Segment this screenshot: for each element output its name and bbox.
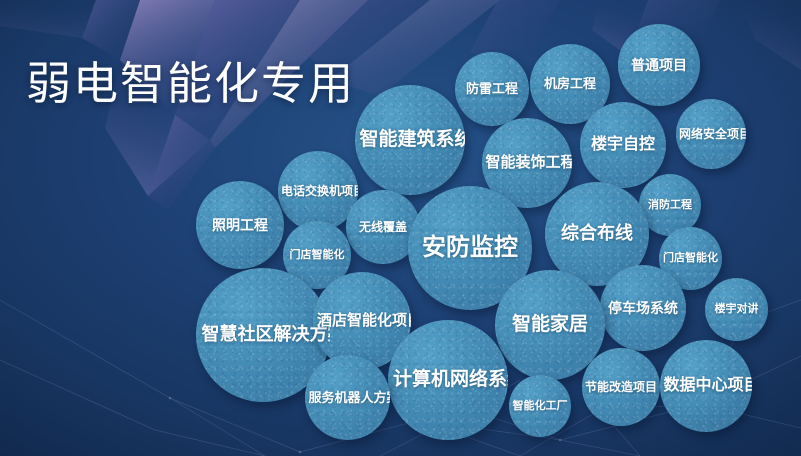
- bubble-label: 安防监控: [417, 234, 523, 262]
- bubble-label: 无线覆盖: [354, 220, 412, 234]
- bubble-putong-xiangmu[interactable]: 普通项目: [618, 24, 700, 106]
- bubble-label: 门店智能化: [659, 252, 722, 265]
- bubble-label: 机房工程: [539, 76, 601, 91]
- bubble-label: 智能家居: [507, 314, 593, 336]
- bubble-fanglei-gongcheng[interactable]: 防雷工程: [455, 52, 529, 126]
- bubble-label: 防雷工程: [461, 81, 523, 96]
- bubble-tingchechang-xitong[interactable]: 停车场系统: [600, 265, 686, 351]
- bubble-louyu-zikong[interactable]: 楼宇自控: [580, 102, 666, 188]
- bubble-label: 门店智能化: [285, 249, 350, 262]
- bubble-label: 照明工程: [207, 217, 273, 234]
- bubble-label: 酒店智能化项目: [313, 312, 411, 330]
- bubble-label: 综合布线: [556, 223, 638, 244]
- bubble-jisuanji-wangluo[interactable]: 计算机网络系统集成: [388, 320, 508, 440]
- bubble-fuwu-jiqiren-fangan[interactable]: 服务机器人方案: [305, 355, 390, 440]
- bubble-wangluo-anquan-xiangmu[interactable]: 网络安全项目: [676, 99, 746, 169]
- bubble-zhinenghua-gongchang[interactable]: 智能化工厂: [509, 375, 571, 437]
- bubble-label: 数据中心项目: [660, 377, 752, 396]
- page-title: 弱电智能化专用: [26, 59, 355, 109]
- bubble-label: 计算机网络系统集成: [388, 369, 508, 391]
- bubble-label: 楼宇自控: [586, 136, 660, 155]
- slide-canvas: 防雷工程机房工程普通项目网络安全项目智能建筑系统集成智能装饰工程楼宇自控电话交换…: [0, 0, 801, 456]
- bubble-label: 电话交换机项目: [278, 184, 358, 198]
- bubble-label: 楼宇对讲: [710, 303, 764, 316]
- bubble-label: 智能装饰工程: [482, 154, 572, 172]
- bubble-label: 网络安全项目: [676, 127, 746, 141]
- bubble-label: 智能化工厂: [509, 400, 571, 413]
- bubble-label: 智能建筑系统集成: [355, 129, 465, 151]
- bubble-label: 普通项目: [626, 57, 692, 74]
- bubble-label: 智慧社区解决方案: [197, 324, 330, 345]
- bubble-louyu-duijiang[interactable]: 楼宇对讲: [705, 278, 768, 341]
- bubble-zhaoming-gongcheng[interactable]: 照明工程: [196, 181, 284, 269]
- bubble-jieneng-gaizao-xiangmu[interactable]: 节能改造项目: [582, 348, 660, 426]
- bubble-shuju-zhongxin-xiangmu[interactable]: 数据中心项目: [660, 340, 752, 432]
- bubble-label: 节能改造项目: [582, 380, 660, 394]
- bubble-label: 停车场系统: [603, 300, 683, 317]
- bubble-label: 消防工程: [643, 199, 697, 212]
- bubble-zhineng-jianzhu-xitong[interactable]: 智能建筑系统集成: [355, 85, 465, 195]
- bubble-label: 服务机器人方案: [305, 390, 390, 405]
